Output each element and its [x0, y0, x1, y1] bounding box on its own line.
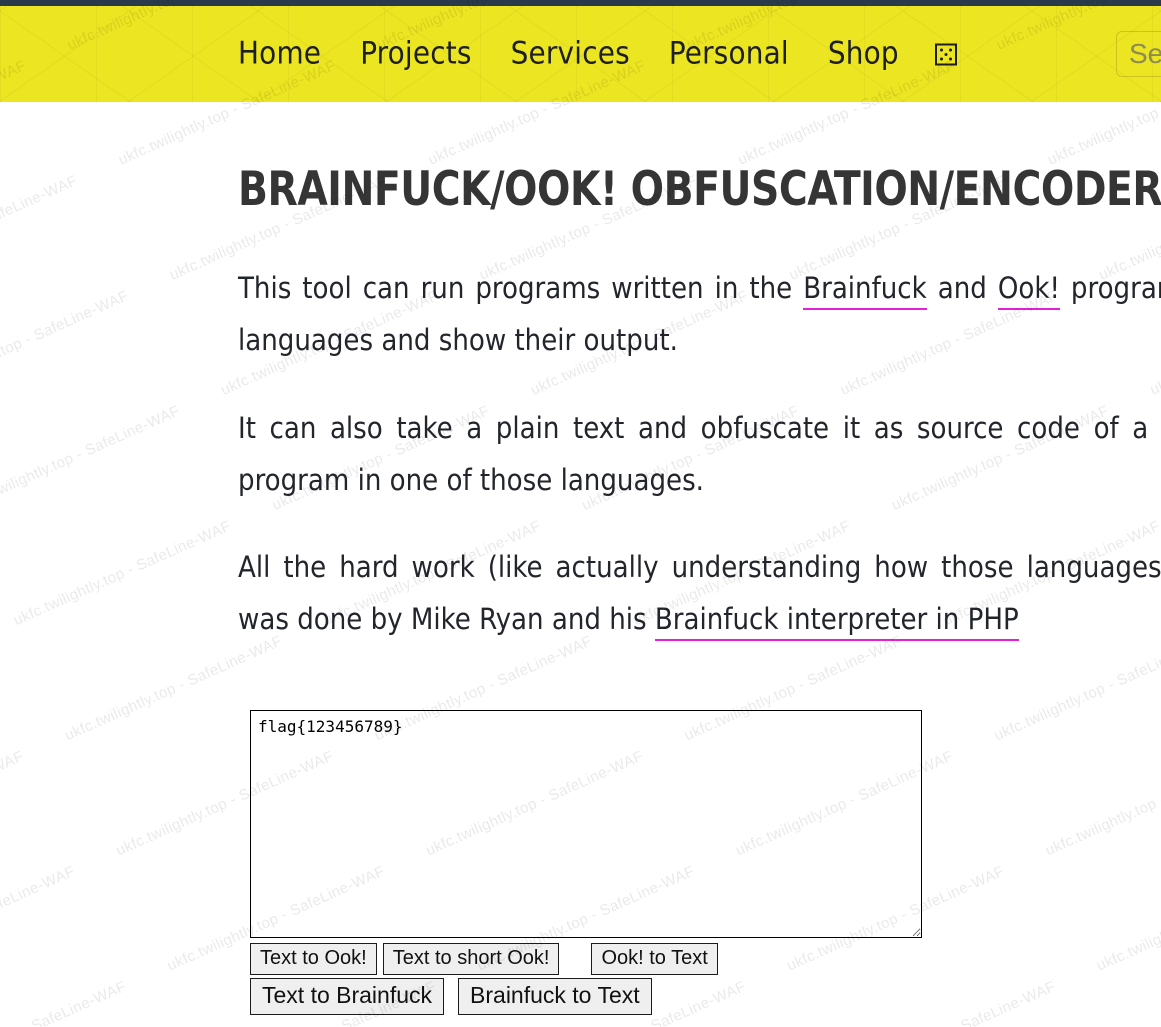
watermark-text: ukfc.twilightly.top - SafeLine-WAF [0, 383, 270, 613]
watermark-text: ukfc.twilightly.top - SafeLine-WAF [0, 844, 165, 1027]
nav-item-projects[interactable]: Projects [360, 39, 471, 70]
main-content: BRAINFUCK/OOK! OBFUSCATION/ENCODER This … [238, 102, 1161, 645]
nav-item-services[interactable]: Services [511, 39, 630, 70]
watermark-text: ukfc.twilightly.top - SafeLine-WAF [0, 153, 167, 383]
brainfuck-to-text-button[interactable]: Brainfuck to Text [458, 978, 652, 1015]
grid-dots-icon[interactable] [935, 43, 957, 65]
source-textarea[interactable] [250, 710, 922, 938]
search-input[interactable] [1116, 31, 1161, 77]
text-to-ook-button[interactable]: Text to Ook! [250, 943, 377, 975]
top-accent-strip [0, 0, 1161, 6]
obfuscate-paragraph: It can also take a plain text and obfusc… [238, 402, 1161, 506]
button-row-ook: Text to Ook! Text to short Ook! Ook! to … [250, 943, 922, 975]
nav-item-home[interactable]: Home [238, 39, 321, 70]
page-title: BRAINFUCK/OOK! OBFUSCATION/ENCODER [238, 102, 1161, 216]
credits-paragraph: All the hard work (like actually underst… [238, 541, 1161, 645]
brainfuck-link[interactable]: Brainfuck [803, 271, 927, 310]
page-root: Home Projects Services Personal Shop BRA… [0, 0, 1161, 1027]
converter-form: Text to Ook! Text to short Ook! Ook! to … [250, 710, 922, 1015]
php-interpreter-link[interactable]: Brainfuck interpreter in PHP [655, 602, 1019, 641]
navbar-inner: Home Projects Services Personal Shop [0, 6, 1161, 102]
watermark-text: ukfc.twilightly.top - SafeLine-WAF [0, 729, 114, 959]
primary-navigation: Home Projects Services Personal Shop [238, 39, 957, 70]
watermark-text: ukfc.twilightly.top - SafeLine-WAF [1145, 959, 1161, 1027]
watermark-text: ukfc.twilightly.top - SafeLine-WAF [1043, 729, 1161, 959]
watermark-text: ukfc.twilightly.top - SafeLine-WAF [1094, 844, 1161, 1027]
ook-link[interactable]: Ook! [998, 271, 1060, 310]
button-row-brainfuck: Text to Brainfuck Brainfuck to Text [250, 978, 922, 1015]
text-to-short-ook-button[interactable]: Text to short Ook! [383, 943, 560, 975]
ook-to-text-button[interactable]: Ook! to Text [591, 943, 717, 975]
watermark-text: ukfc.twilightly.top - SafeLine-WAF [0, 614, 62, 844]
intro-text-before: This tool can run programs written in th… [238, 271, 803, 305]
watermark-text: ukfc.twilightly.top - SafeLine-WAF [0, 498, 11, 728]
text-to-brainfuck-button[interactable]: Text to Brainfuck [250, 978, 444, 1015]
nav-item-personal[interactable]: Personal [669, 39, 789, 70]
watermark-text: ukfc.twilightly.top - SafeLine-WAF [0, 959, 216, 1027]
intro-paragraph: This tool can run programs written in th… [238, 262, 1161, 366]
site-navbar: Home Projects Services Personal Shop [0, 6, 1161, 102]
watermark-text: ukfc.twilightly.top - SafeLine-WAF [992, 614, 1161, 844]
watermark-text: ukfc.twilightly.top - SafeLine-WAF [0, 268, 218, 498]
intro-text-mid: and [927, 271, 998, 305]
nav-item-shop[interactable]: Shop [828, 39, 899, 70]
